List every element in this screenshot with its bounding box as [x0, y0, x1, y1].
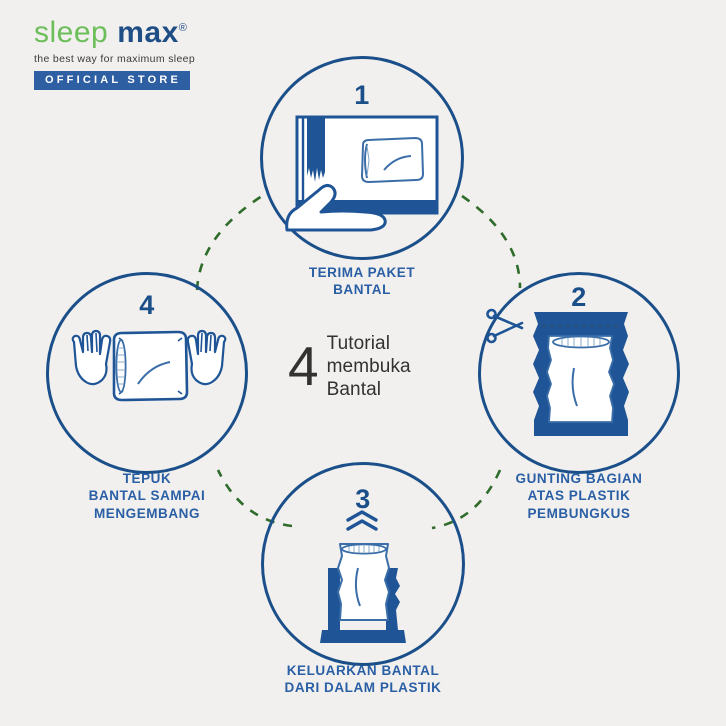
hands-patting-pillow-icon [70, 330, 228, 408]
hand-holding-box-icon [283, 112, 443, 234]
step-2-label: GUNTING BAGIAN ATAS PLASTIK PEMBUNGKUS [470, 470, 688, 522]
center-caption-text: Tutorial membuka Bantal [327, 332, 411, 402]
step-3-label: KELUARKAN BANTAL DARI DALAM PLASTIK [250, 662, 476, 697]
pillow-out-of-plastic-icon [290, 512, 436, 654]
center-caption-number: 4 [288, 342, 318, 392]
step-1-label: TERIMA PAKET BANTAL [252, 264, 472, 299]
center-caption: 4 Tutorial membuka Bantal [288, 332, 411, 402]
step-3-number: 3 [261, 484, 465, 515]
step-4-label: TEPUK BANTAL SAMPAI MENGEMBANG [38, 470, 256, 522]
step-4-number: 4 [46, 290, 248, 321]
scissors-cutting-bag-icon [486, 302, 676, 452]
step-1-number: 1 [260, 80, 464, 111]
infographic-canvas: sleepmax® the best way for maximum sleep… [0, 0, 726, 726]
